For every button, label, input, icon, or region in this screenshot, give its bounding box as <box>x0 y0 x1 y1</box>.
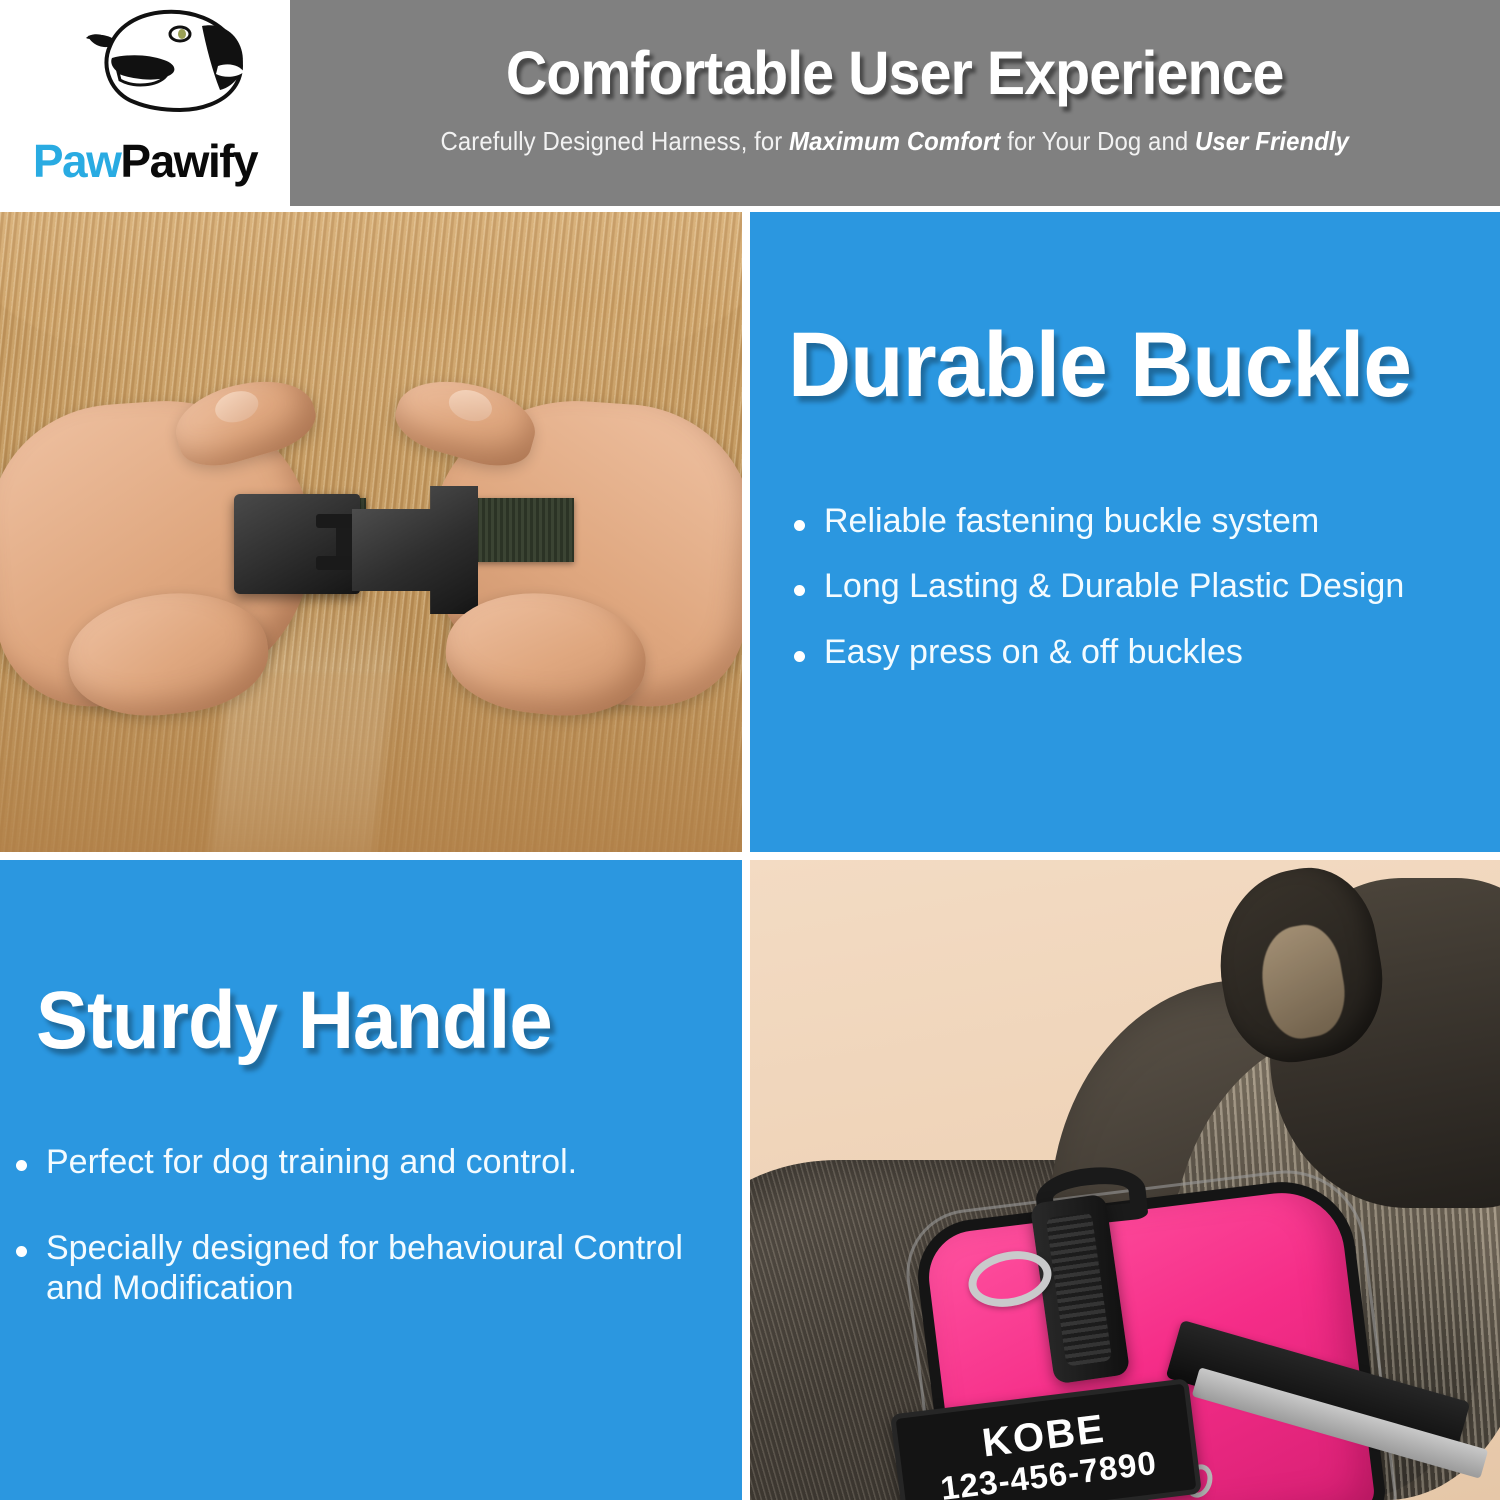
brand-wordmark: PawPawify <box>33 138 257 184</box>
bullet-dot-icon <box>16 1160 27 1171</box>
bullet-text: Perfect for dog training and control. <box>46 1142 724 1182</box>
dog-head-logo-icon <box>72 6 272 126</box>
header-subtitle-bold2: User Friendly <box>1195 126 1349 156</box>
buckle-photo-cell <box>0 212 742 852</box>
header-subtitle-part1: Carefully Designed Harness, for <box>441 126 790 156</box>
durable-buckle-title: Durable Buckle <box>788 322 1411 409</box>
list-item: Reliable fastening buckle system <box>786 502 1476 541</box>
list-item: Perfect for dog training and control. <box>8 1142 724 1182</box>
header-subtitle-part2: for Your Dog and <box>1001 126 1195 156</box>
buckle-female-half <box>234 494 360 594</box>
durable-buckle-content: Durable Buckle Reliable fastening buckle… <box>750 212 1500 852</box>
bullet-dot-icon <box>794 651 805 662</box>
sturdy-handle-bullet-list: Perfect for dog training and control. Sp… <box>8 1142 724 1354</box>
durable-buckle-panel: Durable Buckle Reliable fastening buckle… <box>750 212 1500 852</box>
header-subtitle: Carefully Designed Harness, for Maximum … <box>441 126 1350 157</box>
brand-word-paw: Paw <box>33 135 121 187</box>
infographic-page: PawPawify Comfortable User Experience Ca… <box>0 0 1500 1500</box>
dog-photo-cell: KOBE 123-456-7890 <box>750 860 1500 1500</box>
header-title: Comfortable User Experience <box>506 43 1284 104</box>
bullet-dot-icon <box>16 1246 27 1257</box>
bullet-text: Easy press on & off buckles <box>824 633 1476 672</box>
dog-ear-inner <box>1254 920 1352 1044</box>
hands-fastening-buckle-photo <box>0 212 742 852</box>
header-banner: PawPawify Comfortable User Experience Ca… <box>0 0 1500 206</box>
bullet-dot-icon <box>794 520 805 531</box>
sturdy-handle-panel: Sturdy Handle Perfect for dog training a… <box>0 860 742 1500</box>
list-item: Easy press on & off buckles <box>786 633 1476 672</box>
durable-buckle-bullet-list: Reliable fastening buckle system Long La… <box>786 502 1476 698</box>
dog-wearing-pink-harness-photo: KOBE 123-456-7890 <box>750 860 1500 1500</box>
feature-grid: Durable Buckle Reliable fastening buckle… <box>0 212 1500 1500</box>
bullet-text: Long Lasting & Durable Plastic Design <box>824 567 1476 606</box>
brand-logo: PawPawify <box>0 0 290 206</box>
list-item: Long Lasting & Durable Plastic Design <box>786 567 1476 606</box>
sturdy-handle-title: Sturdy Handle <box>36 982 552 1060</box>
header-text-bar: Comfortable User Experience Carefully De… <box>290 0 1500 206</box>
bullet-dot-icon <box>794 585 805 596</box>
brand-word-pawify: Pawify <box>120 135 257 187</box>
right-thumb-nail <box>445 385 496 426</box>
bullet-text: Specially designed for behavioural Contr… <box>46 1228 724 1308</box>
sturdy-handle-content: Sturdy Handle Perfect for dog training a… <box>0 860 742 1500</box>
header-subtitle-bold1: Maximum Comfort <box>789 126 1000 156</box>
handle-grip-texture <box>1046 1212 1112 1367</box>
bullet-text: Reliable fastening buckle system <box>824 502 1476 541</box>
left-thumb-nail <box>211 386 262 427</box>
list-item: Specially designed for behavioural Contr… <box>8 1228 724 1308</box>
